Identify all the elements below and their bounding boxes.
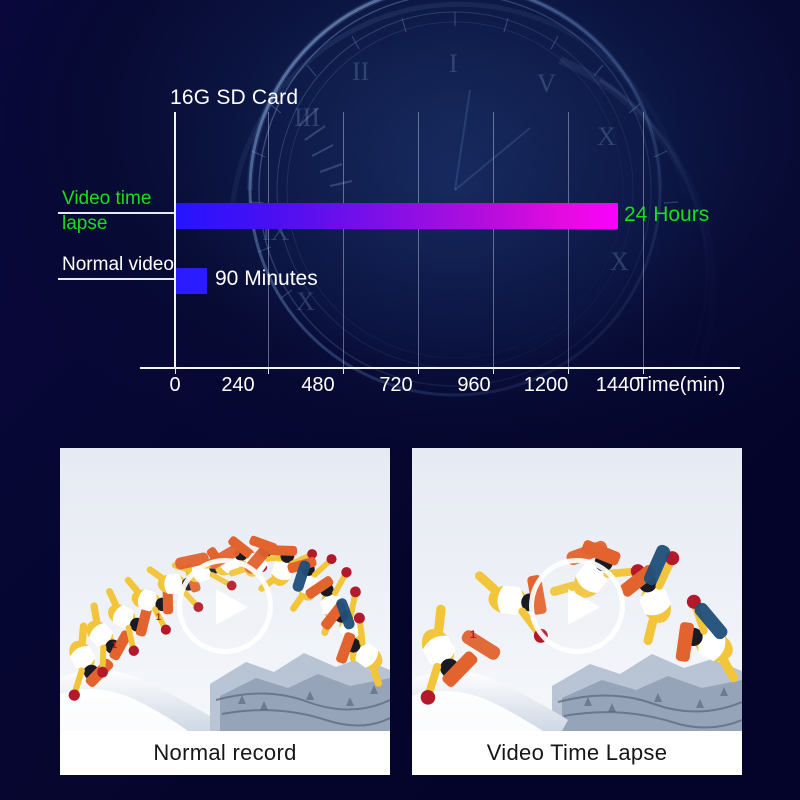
x-tick-label-960: 960 [457,374,490,397]
video-thumbnail-video-time-lapse[interactable]: 1 [412,448,742,731]
gridline-1200 [568,112,569,368]
promo-infographic: I V X II III IX X X 16G SD Card [0,0,800,800]
x-axis-label: Time(min) [636,374,725,397]
svg-text:1: 1 [112,640,117,650]
play-icon[interactable] [529,558,625,654]
x-tick-label-480: 480 [301,374,334,397]
gridline-720 [418,112,419,368]
svg-text:1: 1 [156,612,161,622]
x-axis-line [140,367,740,369]
x-tick-label-720: 720 [379,374,412,397]
video-card-caption-normal-record: Normal record [60,731,390,775]
gridline-480 [343,112,344,368]
x-tick-0 [175,367,176,374]
x-tick-960 [493,367,494,374]
x-tick-1440 [643,367,644,374]
gridline-1440 [643,112,644,368]
video-card-normal-record[interactable]: 1 1 Normal record [60,448,390,775]
x-tick-1200 [568,367,569,374]
bar-normal-video [176,268,207,294]
x-tick-720 [418,367,419,374]
gridline-960 [493,112,494,368]
bar-value-normal-video: 90 Minutes [215,267,318,291]
x-tick-label-1200: 1200 [524,374,569,397]
sd-card-capacity-chart: 16G SD Card 0 240 480 720 960 1200 1440 … [0,0,800,440]
x-tick-480 [343,367,344,374]
gridline-240 [268,112,269,368]
x-tick-label-1440: 1440 [596,374,641,397]
play-icon[interactable] [177,558,273,654]
chart-title: 16G SD Card [170,86,298,110]
video-comparison-section: 1 1 Normal record [0,448,800,778]
bar-video-time-lapse [176,203,618,229]
video-card-caption-video-time-lapse: Video Time Lapse [412,731,742,775]
category-label-video-time-lapse: Video time lapse [62,186,174,236]
video-thumbnail-normal-record[interactable]: 1 1 [60,448,390,731]
x-tick-label-0: 0 [169,374,180,397]
svg-text:1: 1 [470,629,476,641]
x-tick-240 [268,367,269,374]
y-axis-line [174,112,176,368]
leader-line-normal [58,278,176,280]
bar-value-video-time-lapse: 24 Hours [624,203,709,227]
video-card-video-time-lapse[interactable]: 1 Video Time Lapse [412,448,742,775]
x-tick-label-240: 240 [221,374,254,397]
category-label-normal-video: Normal video [62,252,174,277]
